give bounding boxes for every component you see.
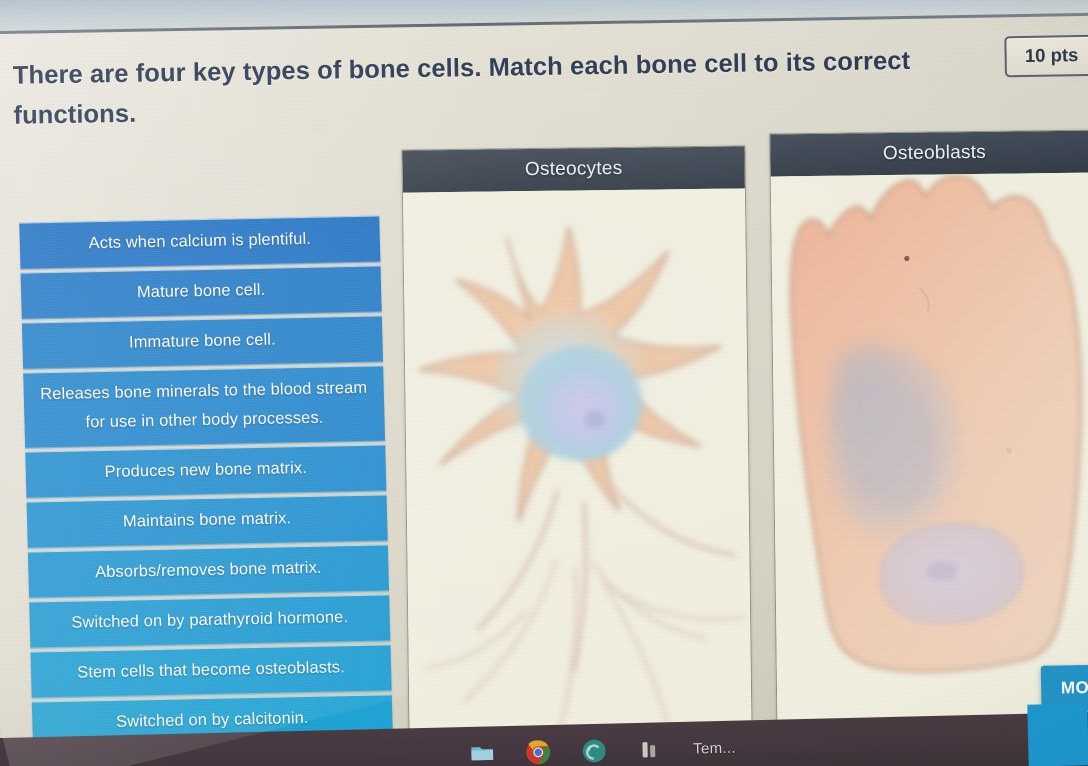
answer-tile[interactable]: Maintains bone matrix.	[27, 495, 388, 549]
answer-tile[interactable]: Releases bone minerals to the blood stre…	[23, 365, 385, 449]
taskbar-edge-highlight	[1027, 703, 1088, 766]
drop-column-body[interactable]	[771, 172, 1088, 728]
answer-tile[interactable]: Switched on by parathyroid hormone.	[29, 594, 390, 648]
answer-tile[interactable]: Stem cells that become osteoblasts.	[30, 644, 391, 698]
answer-tile[interactable]: Absorbs/removes bone matrix.	[28, 544, 389, 598]
answer-bank: Acts when calcium is plentiful. Mature b…	[19, 215, 393, 747]
answer-tile[interactable]: Produces new bone matrix.	[25, 445, 386, 499]
browser-icon[interactable]	[581, 738, 608, 765]
drop-column-osteoblasts[interactable]: Osteoblasts	[769, 129, 1088, 729]
app-icon[interactable]	[637, 736, 664, 763]
drop-column-header: Osteocytes	[402, 146, 744, 192]
taskbar-tray-text: Tem...	[693, 739, 736, 757]
answer-tile[interactable]: Acts when calcium is plentiful.	[19, 215, 380, 269]
file-explorer-icon[interactable]	[469, 740, 496, 766]
osteocyte-cell-icon	[403, 188, 752, 744]
screen-content: There are four key types of bone cells. …	[0, 0, 1088, 766]
drop-column-header: Osteoblasts	[770, 130, 1088, 176]
question-text: There are four key types of bone cells. …	[13, 41, 974, 136]
photographed-screen: There are four key types of bone cells. …	[0, 0, 1088, 766]
drop-column-body[interactable]	[403, 188, 752, 744]
osteoblast-cell-icon	[771, 172, 1088, 728]
drop-column-osteocytes[interactable]: Osteocytes	[401, 145, 752, 745]
answer-tile[interactable]: Immature bone cell.	[22, 315, 383, 369]
chrome-icon[interactable]	[525, 739, 552, 766]
answer-tile[interactable]: Mature bone cell.	[21, 265, 382, 319]
points-badge: 10 pts	[1004, 35, 1088, 78]
